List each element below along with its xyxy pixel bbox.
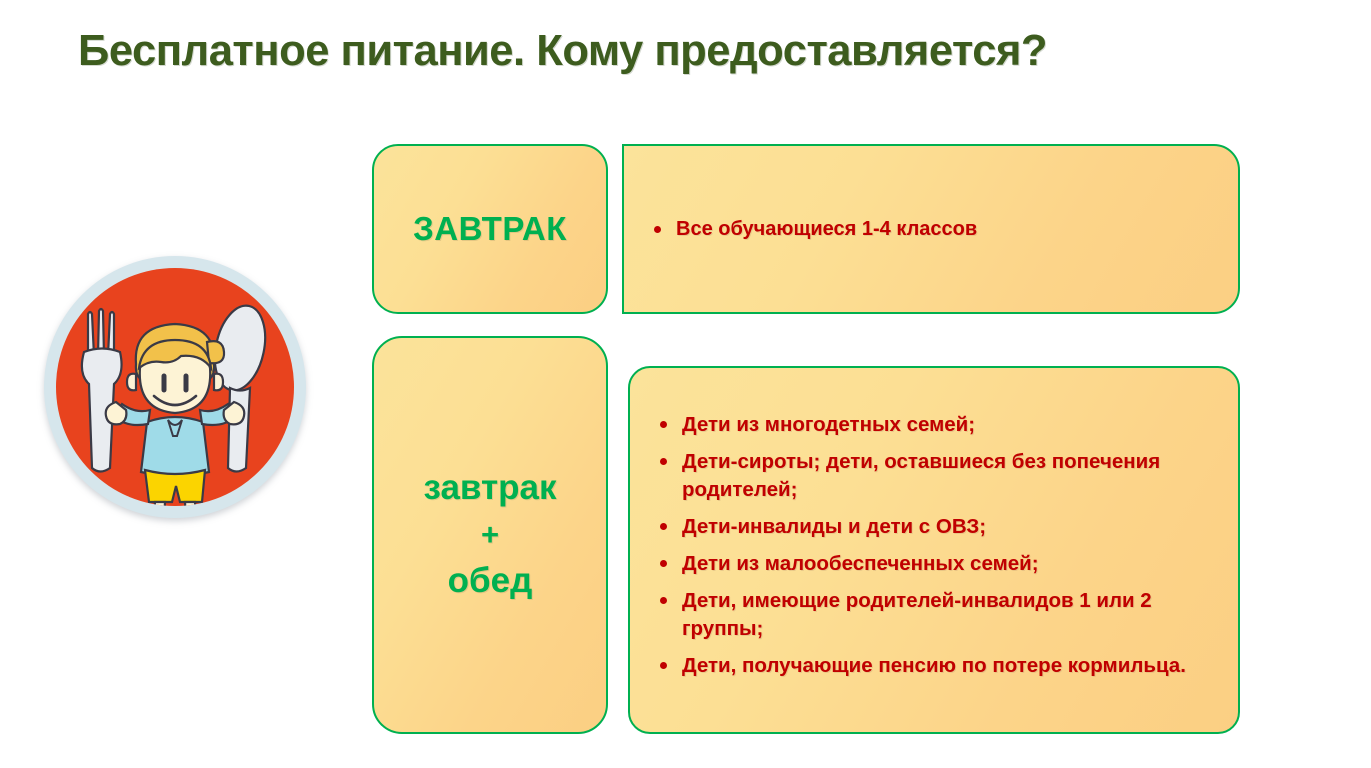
breakfast-bullet-list: Все обучающиеся 1-4 классов xyxy=(624,216,1238,243)
list-item: Дети из малообеспеченных семей; xyxy=(656,550,1216,577)
lunch-bullet-list: Дети из многодетных семей; Дети-сироты; … xyxy=(630,411,1238,689)
lunch-label-plus: + xyxy=(424,515,557,555)
lunch-label-text: завтрак + обед xyxy=(424,466,557,603)
list-item: Все обучающиеся 1-4 классов xyxy=(650,216,1216,243)
list-item: Дети, получающие пенсию по потере кормил… xyxy=(656,652,1216,679)
lunch-label-box: завтрак + обед xyxy=(372,336,608,734)
breakfast-label-text: ЗАВТРАК xyxy=(413,208,567,250)
lunch-label-line2: обед xyxy=(424,559,557,604)
list-item: Дети, имеющие родителей-инвалидов 1 или … xyxy=(656,587,1216,642)
page-title: Бесплатное питание. Кому предоставляется… xyxy=(78,26,1306,76)
list-item: Дети-инвалиды и дети с ОВЗ; xyxy=(656,513,1216,540)
breakfast-content-box: Все обучающиеся 1-4 классов xyxy=(622,144,1240,314)
illustration-figure xyxy=(44,256,306,518)
lunch-content-box: Дети из многодетных семей; Дети-сироты; … xyxy=(628,366,1240,734)
breakfast-label-box: ЗАВТРАК xyxy=(372,144,608,314)
list-item: Дети из многодетных семей; xyxy=(656,411,1216,438)
child-with-fork-and-spoon-icon xyxy=(44,256,306,518)
list-item: Дети-сироты; дети, оставшиеся без попече… xyxy=(656,448,1216,503)
lunch-label-line1: завтрак xyxy=(424,466,557,511)
